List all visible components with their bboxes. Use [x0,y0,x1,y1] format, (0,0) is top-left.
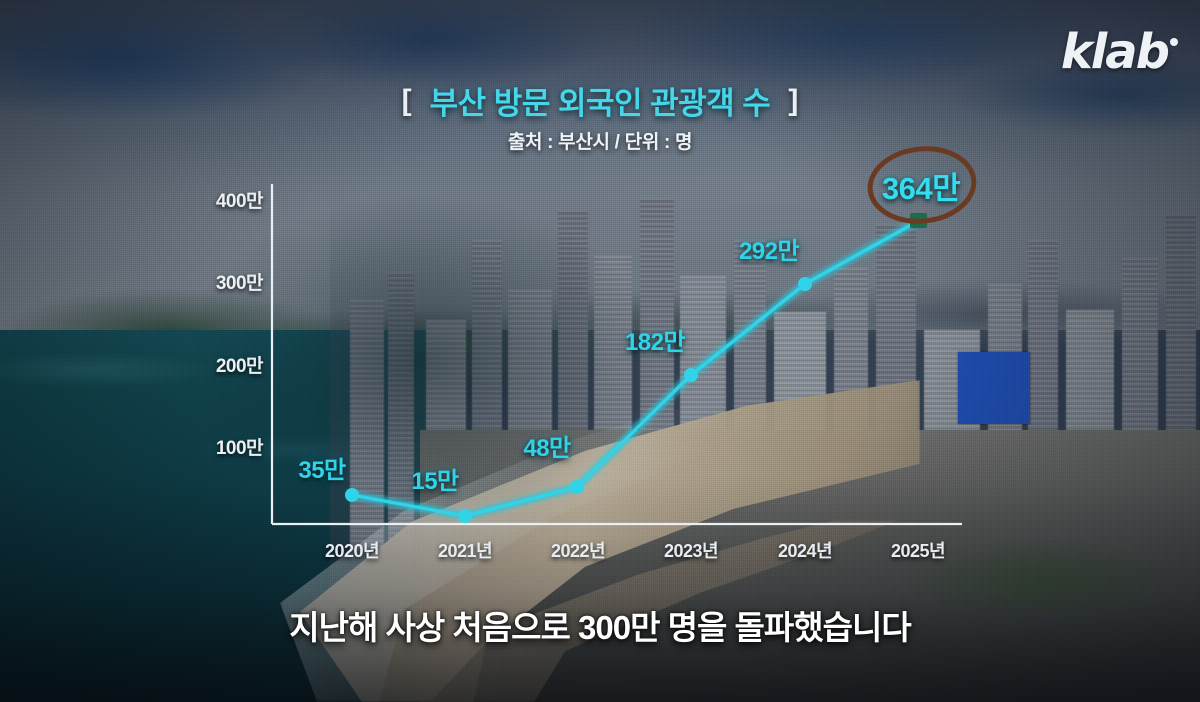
value-label-2022: 48만 [487,428,607,463]
value-label-2024: 292만 [709,231,829,266]
value-label-2025: 364만 [861,163,981,208]
x-tick-label-2020: 2020년 [297,537,407,563]
value-label-2021: 15만 [375,461,495,496]
line-chart: 400만 300만 200만 100만 [0,0,1200,702]
data-point-2022[interactable] [570,480,584,494]
subtitle-caption: 지난해 사상 처음으로 300만 명을 돌파했습니다 [0,601,1200,649]
x-tick-label-2025: 2025년 [863,537,973,563]
data-point-2021[interactable] [458,509,472,523]
data-point-2023[interactable] [684,368,698,382]
value-label-2023: 182만 [595,322,715,357]
value-label-2020: 35만 [262,450,382,485]
x-tick-label-2022: 2022년 [523,537,633,563]
x-tick-label-2021: 2021년 [410,537,520,563]
data-point-2020[interactable] [345,488,359,502]
broadcast-graphic: klab [ 부산 방문 외국인 관광객 수 ] 출처 : 부산시 / 단위 :… [0,0,1200,702]
x-tick-label-2024: 2024년 [750,537,860,563]
x-tick-label-2023: 2023년 [636,537,746,563]
data-point-2024[interactable] [798,277,812,291]
